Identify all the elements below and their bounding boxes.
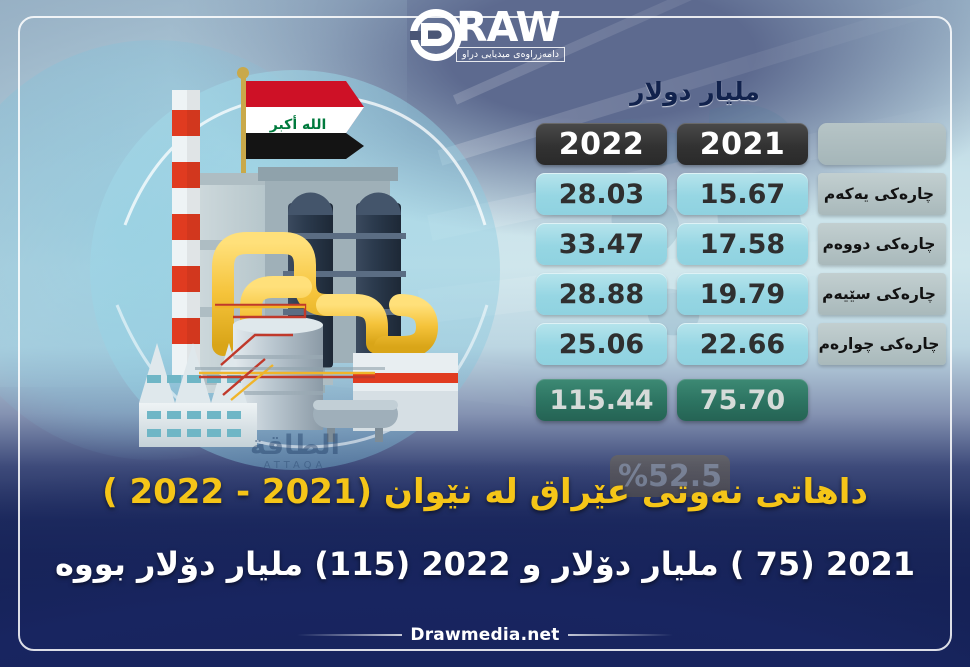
value-2021-q4: 22.66 bbox=[677, 323, 808, 365]
attaqa-arabic-text: الطاقة bbox=[200, 432, 390, 459]
row-label-q3: چارەکی سێیەم bbox=[818, 273, 946, 315]
value-2022-q1: 28.03 bbox=[536, 173, 667, 215]
attaqa-watermark: الطاقة ATTAQA bbox=[200, 432, 390, 471]
value-2022-q4: 25.06 bbox=[536, 323, 667, 365]
data-table: 2022 2021 28.03 15.67 چارەکی یەکەم 33.47… bbox=[536, 123, 956, 429]
headline-primary: داهاتی نەوتی عێراق لە نێوان (2021 - 2022… bbox=[40, 472, 930, 512]
table-header-row: 2022 2021 bbox=[536, 123, 956, 165]
total-label-spacer bbox=[818, 379, 946, 421]
value-2021-q3: 19.79 bbox=[677, 273, 808, 315]
value-2022-q2: 33.47 bbox=[536, 223, 667, 265]
table-row: 33.47 17.58 چارەکی دووەم bbox=[536, 223, 956, 265]
header-label-blank bbox=[818, 123, 946, 165]
value-2022-q3: 28.88 bbox=[536, 273, 667, 315]
iraq-flag: الله أكبر bbox=[246, 81, 364, 159]
header-2022: 2022 bbox=[536, 123, 667, 165]
total-2022: 115.44 bbox=[536, 379, 667, 421]
headline-secondary: 2021 (75 ) ملیار دۆلار و 2022 (115) ملیا… bbox=[40, 545, 930, 583]
footer-rule-left bbox=[297, 634, 402, 636]
header-2021: 2021 bbox=[677, 123, 808, 165]
row-label-q1: چارەکی یەکەم bbox=[818, 173, 946, 215]
row-label-q4: چارەکی چوارەم bbox=[818, 323, 946, 365]
row-label-q2: چارەکی دووەم bbox=[818, 223, 946, 265]
logo-subtitle: دامەزراوەی میدیایی دراو bbox=[456, 47, 565, 62]
footer-site-url: Drawmedia.net bbox=[402, 625, 567, 645]
footer-rule-right bbox=[568, 634, 673, 636]
smokestack bbox=[172, 90, 200, 375]
draw-logo: RAW دامەزراوەی میدیایی دراو bbox=[408, 4, 608, 66]
total-2021: 75.70 bbox=[677, 379, 808, 421]
value-2021-q2: 17.58 bbox=[677, 223, 808, 265]
svg-text:الله أكبر: الله أكبر bbox=[269, 115, 327, 133]
table-total-row: 115.44 75.70 bbox=[536, 379, 956, 421]
oil-refinery-illustration: الله أكبر bbox=[55, 55, 535, 485]
table-row: 28.88 19.79 چارەکی سێیەم bbox=[536, 273, 956, 315]
unit-title: ملیار دولار bbox=[560, 77, 830, 106]
table-row: 25.06 22.66 چارەکی چوارەم bbox=[536, 323, 956, 365]
table-row: 28.03 15.67 چارەکی یەکەم bbox=[536, 173, 956, 215]
footer: Drawmedia.net bbox=[0, 625, 970, 645]
attaqa-latin-text: ATTAQA bbox=[200, 460, 390, 471]
infographic-poster: الله أكبر bbox=[0, 0, 970, 667]
value-2021-q1: 15.67 bbox=[677, 173, 808, 215]
logo-wordmark: RAW bbox=[456, 8, 560, 47]
